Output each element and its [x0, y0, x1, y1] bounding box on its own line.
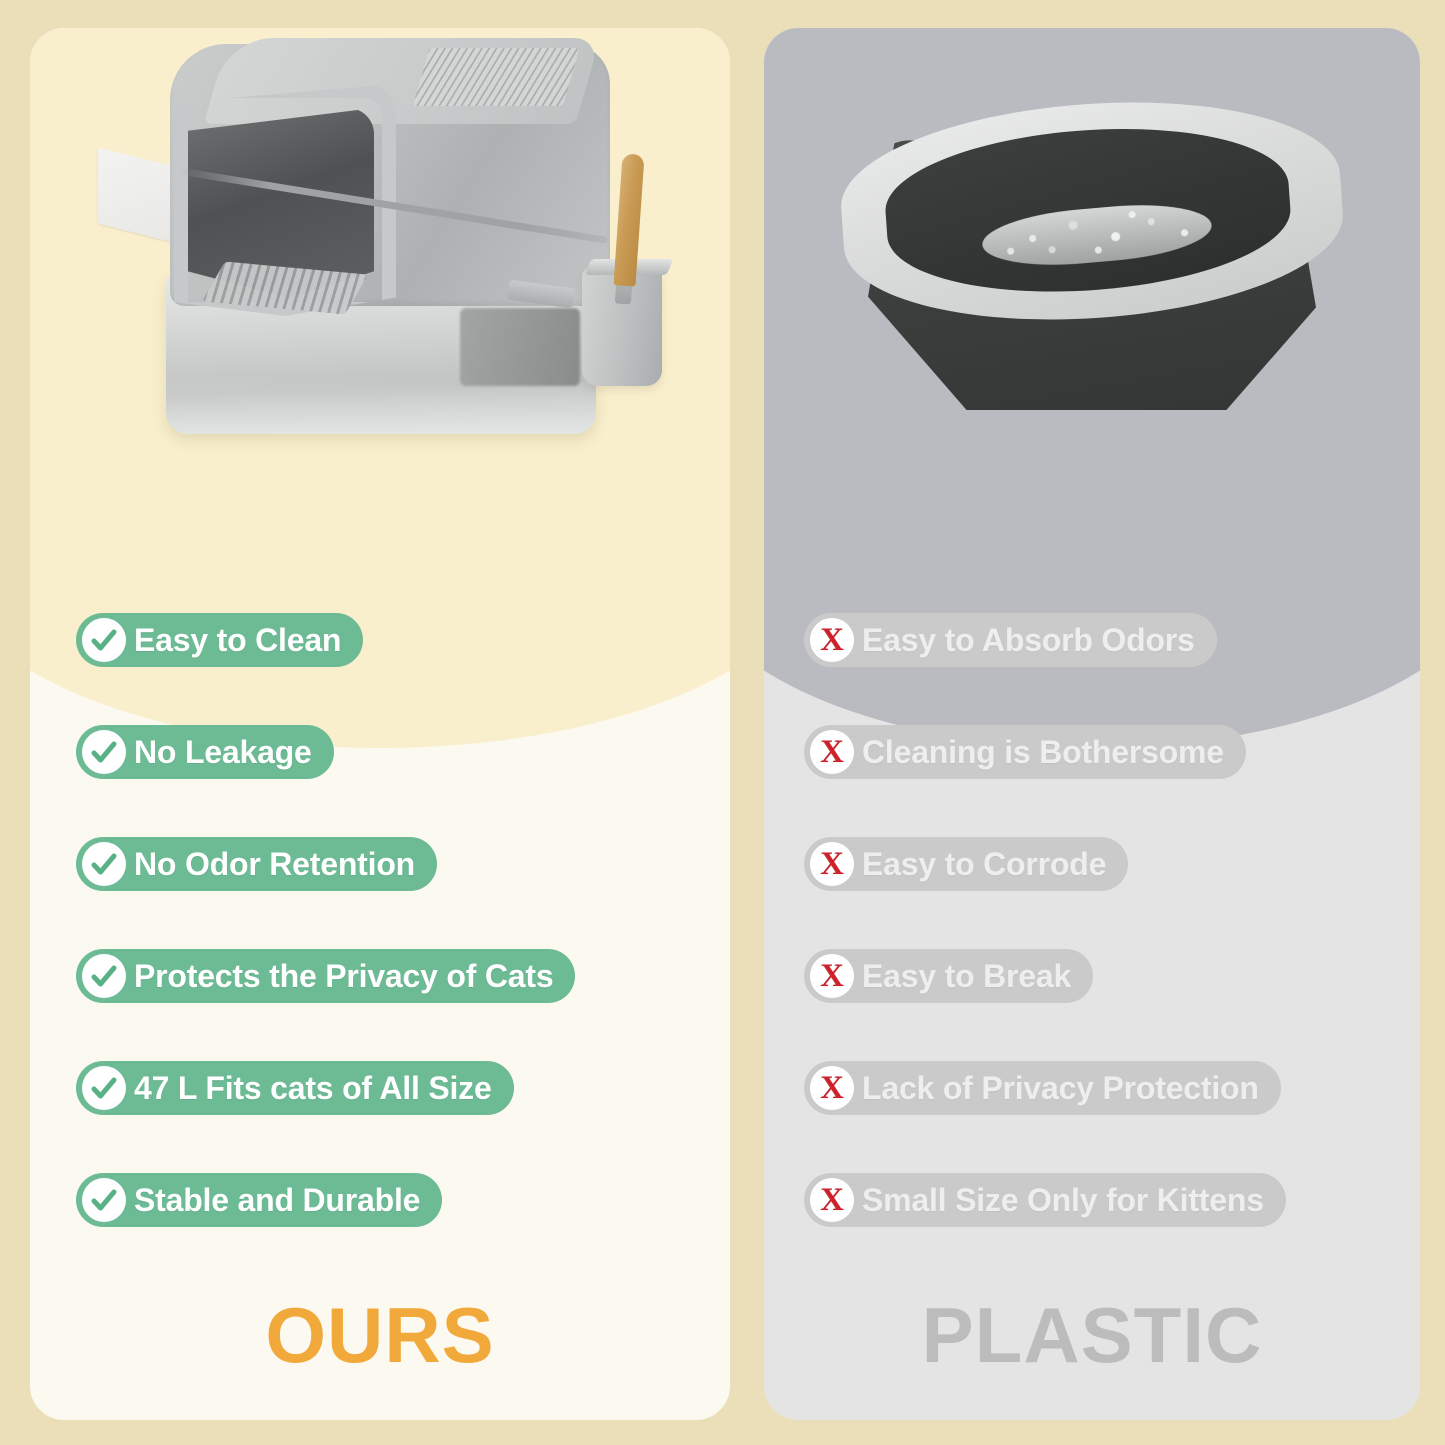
feature-label: Easy to Clean	[134, 622, 341, 659]
cross-circle-icon: X	[810, 954, 854, 998]
ours-footer-label: OURS	[30, 1290, 730, 1381]
cross-circle-icon: X	[810, 1066, 854, 1110]
feature-pill-no-odor-retention: No Odor Retention	[76, 837, 437, 891]
drawback-label: Lack of Privacy Protection	[862, 1070, 1259, 1107]
feature-label: 47 L Fits cats of All Size	[134, 1070, 492, 1107]
feature-pill-stable-durable: Stable and Durable	[76, 1173, 442, 1227]
list-item: Protects the Privacy of Cats	[76, 920, 706, 1032]
drawback-pill-easy-to-corrode: X Easy to Corrode	[804, 837, 1128, 891]
drawback-label: Easy to Corrode	[862, 846, 1106, 883]
feature-label: Protects the Privacy of Cats	[134, 958, 553, 995]
drawback-label: Easy to Absorb Odors	[862, 622, 1195, 659]
check-circle-icon	[82, 954, 126, 998]
feature-label: No Odor Retention	[134, 846, 415, 883]
list-item: No Leakage	[76, 696, 706, 808]
feature-pill-no-leakage: No Leakage	[76, 725, 334, 779]
drawback-pill-lack-privacy: X Lack of Privacy Protection	[804, 1061, 1281, 1115]
comparison-infographic: Easy to Clean No Leakage	[0, 0, 1445, 1445]
feature-pill-capacity: 47 L Fits cats of All Size	[76, 1061, 514, 1115]
drawback-pill-easy-to-break: X Easy to Break	[804, 949, 1093, 1003]
list-item: Easy to Clean	[76, 584, 706, 696]
vent-slots-icon	[413, 48, 580, 106]
plastic-feature-list: X Easy to Absorb Odors X Cleaning is Bot…	[804, 584, 1404, 1256]
drawback-label: Small Size Only for Kittens	[862, 1182, 1264, 1219]
drawback-pill-small-size: X Small Size Only for Kittens	[804, 1173, 1286, 1227]
plastic-footer-label: PLASTIC	[764, 1290, 1420, 1381]
list-item: No Odor Retention	[76, 808, 706, 920]
list-item: X Lack of Privacy Protection	[804, 1032, 1404, 1144]
feature-label: No Leakage	[134, 734, 312, 771]
list-item: X Easy to Break	[804, 920, 1404, 1032]
ours-feature-list: Easy to Clean No Leakage	[76, 584, 706, 1256]
feature-pill-protects-privacy: Protects the Privacy of Cats	[76, 949, 575, 1003]
drawback-pill-cleaning-bothersome: X Cleaning is Bothersome	[804, 725, 1246, 779]
cross-circle-icon: X	[810, 730, 854, 774]
check-circle-icon	[82, 842, 126, 886]
check-circle-icon	[82, 618, 126, 662]
plastic-panel: X Easy to Absorb Odors X Cleaning is Bot…	[764, 28, 1420, 1420]
ours-panel: Easy to Clean No Leakage	[30, 28, 730, 1420]
check-circle-icon	[82, 730, 126, 774]
cross-circle-icon: X	[810, 842, 854, 886]
list-item: Stable and Durable	[76, 1144, 706, 1256]
drawback-label: Easy to Break	[862, 958, 1071, 995]
drawback-pill-absorb-odors: X Easy to Absorb Odors	[804, 613, 1217, 667]
check-circle-icon	[82, 1066, 126, 1110]
list-item: X Small Size Only for Kittens	[804, 1144, 1404, 1256]
list-item: X Easy to Absorb Odors	[804, 584, 1404, 696]
feature-label: Stable and Durable	[134, 1182, 420, 1219]
list-item: 47 L Fits cats of All Size	[76, 1032, 706, 1144]
cross-circle-icon: X	[810, 1178, 854, 1222]
list-item: X Cleaning is Bothersome	[804, 696, 1404, 808]
check-circle-icon	[82, 1178, 126, 1222]
list-item: X Easy to Corrode	[804, 808, 1404, 920]
drawback-label: Cleaning is Bothersome	[862, 734, 1224, 771]
feature-pill-easy-to-clean: Easy to Clean	[76, 613, 363, 667]
cross-circle-icon: X	[810, 618, 854, 662]
